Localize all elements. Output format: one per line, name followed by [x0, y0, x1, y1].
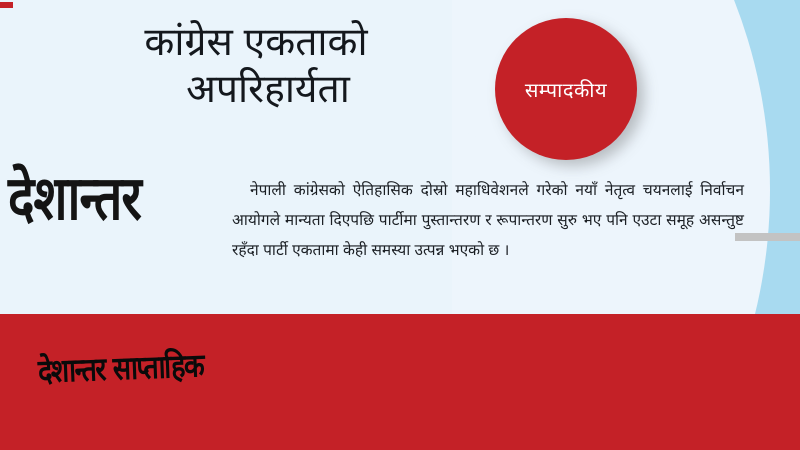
deshantar-logo: देशान्तर — [8, 168, 208, 229]
editorial-graphic-card: कांग्रेस एकताको अपरिहार्यता सम्पादकीय दे… — [0, 0, 800, 450]
page-title-line-2: अपरिहार्यता — [50, 67, 486, 114]
shadow-bar — [735, 233, 800, 241]
page-title-line-1: कांग्रेस एकताको — [26, 20, 486, 67]
accent-tick — [0, 2, 13, 8]
editorial-badge-label: सम्पादकीय — [525, 76, 607, 103]
footer-wordmark: देशान्तर साप्ताहिक — [37, 343, 204, 393]
page-title: कांग्रेस एकताको अपरिहार्यता — [26, 20, 486, 114]
editorial-badge: सम्पादकीय — [495, 18, 637, 160]
article-body: नेपाली कांग्रेसको ऐतिहासिक दोस्रो महाधिव… — [232, 176, 744, 265]
